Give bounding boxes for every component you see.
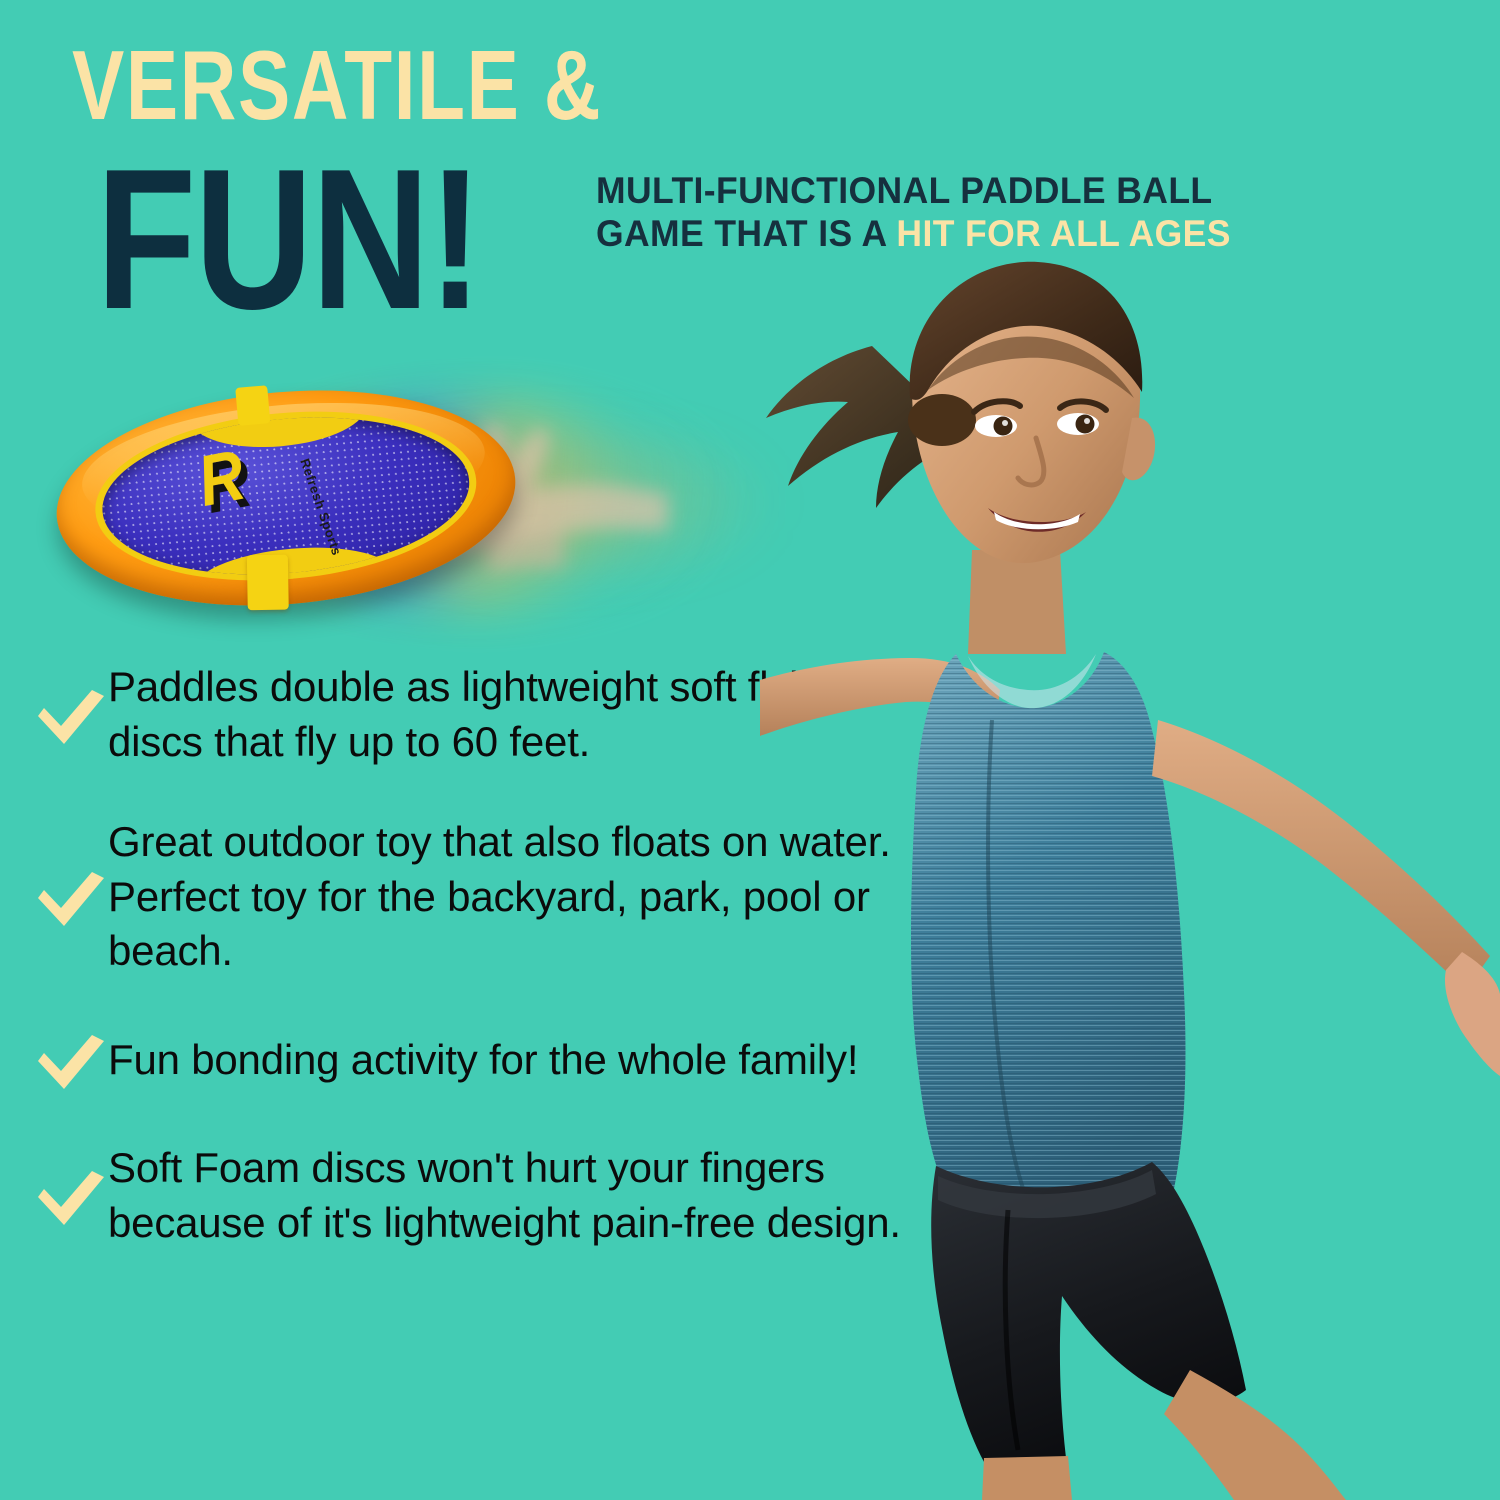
check-icon [34, 862, 108, 932]
tank-top-texture [911, 652, 1185, 1228]
right-hand [1445, 952, 1500, 1076]
right-arm [1152, 720, 1490, 990]
eye-right-catchlight [1084, 418, 1090, 424]
check-icon [34, 1025, 108, 1095]
lifestyle-photo-girl [760, 250, 1500, 1500]
neck [968, 550, 1066, 654]
eye-right-iris [1076, 415, 1095, 434]
disc-yellow-band-top [235, 385, 270, 426]
subheadline-line-2-prefix: GAME THAT IS A [596, 213, 896, 254]
ponytail-root [908, 394, 976, 446]
flying-disc: R Refresh Sports [48, 372, 525, 623]
eye-left-iris [994, 417, 1013, 436]
check-icon [34, 1161, 108, 1231]
product-feature-graphic: VERSATILE & FUN! MULTI-FUNCTIONAL PADDLE… [0, 0, 1500, 1500]
check-icon [34, 680, 108, 750]
subheadline-highlight: HIT FOR ALL AGES [896, 213, 1230, 254]
headline-line-2: FUN! [96, 140, 481, 340]
disc-yellow-band-bottom [247, 555, 289, 611]
headline-line-1: VERSATILE & [72, 36, 602, 134]
subheadline: MULTI-FUNCTIONAL PADDLE BALL GAME THAT I… [596, 170, 1393, 256]
leg-standing [982, 1456, 1072, 1500]
brand-name-text: Refresh Sports [298, 456, 345, 557]
eye-left-catchlight [1002, 420, 1008, 426]
list-item-label: Fun bonding activity for the whole famil… [108, 1033, 858, 1088]
subheadline-line-1: MULTI-FUNCTIONAL PADDLE BALL [596, 170, 1393, 213]
leg-raised [1164, 1370, 1346, 1500]
product-disc-image: R Refresh Sports [46, 384, 746, 624]
brand-logo-letter: R [193, 441, 248, 519]
